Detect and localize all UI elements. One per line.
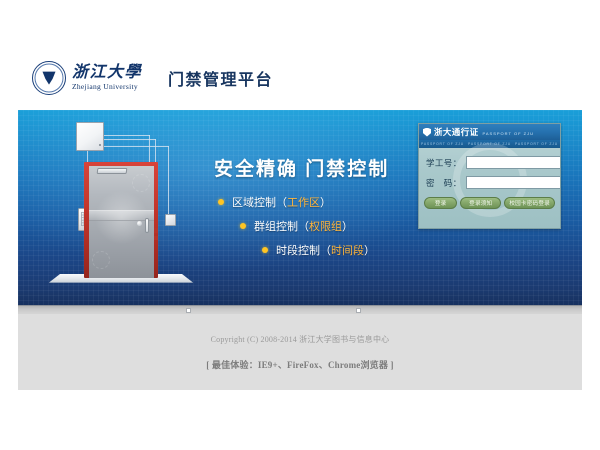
wire-segment: [168, 146, 169, 215]
door-emboss: [92, 251, 110, 269]
copyright-text: Copyright (C) 2008-2014 浙江大学图书与信息中心: [211, 334, 390, 345]
password-row: 密 码：: [426, 176, 553, 189]
login-panel-header: 浙大通行证 PASSPORT OF ZJU: [419, 124, 560, 140]
feature-item-area-control: 区域控制（ 工作区 ）: [218, 194, 375, 210]
carousel-indicator-bar[interactable]: [18, 305, 582, 314]
feature-accent: 时间段: [331, 242, 364, 258]
student-id-input[interactable]: [466, 156, 561, 169]
electric-strike: [154, 236, 158, 240]
feature-item-group-control: 群组控制（ 权限组 ）: [240, 218, 375, 234]
student-id-row: 学工号：: [426, 156, 553, 169]
logo-wordmark: 浙江大學 Zhejiang University: [72, 65, 142, 91]
wire-segment: [104, 146, 169, 147]
browser-compatibility-note: [ 最佳体验：IE9+、FireFox、Chrome浏览器 ]: [206, 358, 393, 371]
login-header-strip: PASSPORT OF ZJU PASSPORT OF ZJU PASSPORT…: [419, 140, 560, 148]
login-notice-button[interactable]: 登录须知: [460, 197, 501, 209]
login-title-en: PASSPORT OF ZJU: [483, 131, 534, 136]
feature-label: 时段控制（: [276, 242, 331, 258]
strip-word: PASSPORT OF ZJU: [421, 142, 464, 146]
login-button[interactable]: 登录: [424, 197, 457, 209]
electric-strike: [154, 228, 158, 233]
door-leaf: [89, 166, 154, 279]
login-form: 学工号： 密 码：: [419, 148, 560, 189]
access-control-door-illustration: [40, 118, 188, 298]
carousel-dot[interactable]: [186, 308, 191, 313]
feature-label: 区域控制（: [232, 194, 287, 210]
door-frame: [84, 162, 158, 278]
feature-accent: 权限组: [309, 218, 342, 234]
door-knob-icon: [137, 221, 142, 226]
shield-icon: [423, 128, 431, 137]
student-id-label: 学工号：: [426, 157, 462, 169]
university-logo[interactable]: 浙江大學 Zhejiang University: [32, 61, 142, 95]
university-seal-icon: [32, 61, 66, 95]
wire-segment: [149, 135, 150, 165]
door-highlight-band: [89, 210, 154, 221]
strip-word: PASSPORT OF ZJU: [515, 142, 558, 146]
feature-list: 区域控制（ 工作区 ） 群组控制（ 权限组 ） 时段控制（ 时间段 ）: [218, 194, 375, 266]
feature-tail: ）: [320, 194, 331, 210]
site-page: 浙江大學 Zhejiang University 门禁管理平台: [18, 45, 582, 390]
site-header: 浙江大學 Zhejiang University 门禁管理平台: [18, 45, 582, 110]
door-handle-icon: [145, 218, 149, 233]
page-title: 门禁管理平台: [168, 66, 273, 90]
strip-word: PASSPORT OF ZJU: [468, 142, 511, 146]
controller-box-icon: [76, 122, 104, 151]
bullet-dot-icon: [262, 247, 268, 253]
feature-label: 群组控制（: [254, 218, 309, 234]
login-panel: 浙大通行证 PASSPORT OF ZJU PASSPORT OF ZJU PA…: [418, 123, 561, 229]
bullet-dot-icon: [240, 223, 246, 229]
feature-tail: ）: [364, 242, 375, 258]
feature-tail: ）: [342, 218, 353, 234]
feature-item-time-control: 时段控制（ 时间段 ）: [262, 242, 375, 258]
card-reader-panel-icon: [165, 214, 176, 226]
site-footer: Copyright (C) 2008-2014 浙江大学图书与信息中心 [ 最佳…: [18, 314, 582, 390]
logo-name-en: Zhejiang University: [72, 83, 142, 91]
carousel-dot[interactable]: [356, 308, 361, 313]
feature-accent: 工作区: [287, 194, 320, 210]
hero-banner: 安全精确 门禁控制 区域控制（ 工作区 ） 群组控制（ 权限组 ） 时段控制（ …: [18, 110, 582, 305]
password-input[interactable]: [466, 176, 561, 189]
wire-segment: [104, 135, 150, 136]
door-closer-icon: [96, 168, 127, 174]
login-title-cn: 浙大通行证: [434, 126, 479, 138]
bullet-dot-icon: [218, 199, 224, 205]
logo-name-cn: 浙江大學: [72, 65, 142, 81]
login-actions: 登录 登录须知 校园卡密码登录: [419, 196, 560, 209]
password-label: 密 码：: [426, 177, 462, 189]
banner-slogan: 安全精确 门禁控制: [214, 154, 389, 181]
campus-card-login-button[interactable]: 校园卡密码登录: [504, 197, 555, 209]
door-emboss: [132, 174, 150, 192]
